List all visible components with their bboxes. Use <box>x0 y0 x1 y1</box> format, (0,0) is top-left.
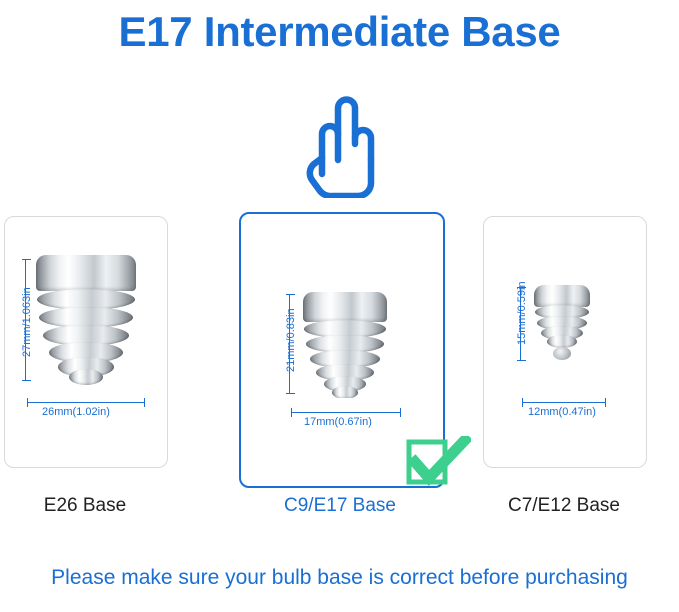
dimension-width-label-e17: 17mm(0.67in) <box>304 416 372 428</box>
dimension-height-label-e12: 15mm/0.59in <box>516 281 528 345</box>
dimension-height-label-e26: 27mm/1.063in <box>21 287 33 357</box>
pointing-hand-icon <box>296 88 386 198</box>
dimension-width-label-e12: 12mm(0.47in) <box>528 406 596 418</box>
bulb-base-image-e26 <box>36 255 136 383</box>
base-card-e12: 15mm/0.59in 12mm(0.47in) <box>483 216 647 468</box>
card-label-e26: E26 Base <box>4 495 166 517</box>
base-card-e26: 27mm/1.063in 26mm(1.02in) <box>4 216 168 468</box>
page-title: E17 Intermediate Base <box>0 8 679 56</box>
bulb-base-image-e12 <box>534 285 590 363</box>
bulb-base-image-e17 <box>303 292 387 396</box>
footer-note: Please make sure your bulb base is corre… <box>0 566 679 590</box>
card-label-e12: C7/E12 Base <box>483 495 645 517</box>
dimension-width-label-e26: 26mm(1.02in) <box>42 406 110 418</box>
green-check-icon <box>405 436 471 502</box>
dimension-height-label-e17: 21mm/0.83in <box>285 308 297 372</box>
